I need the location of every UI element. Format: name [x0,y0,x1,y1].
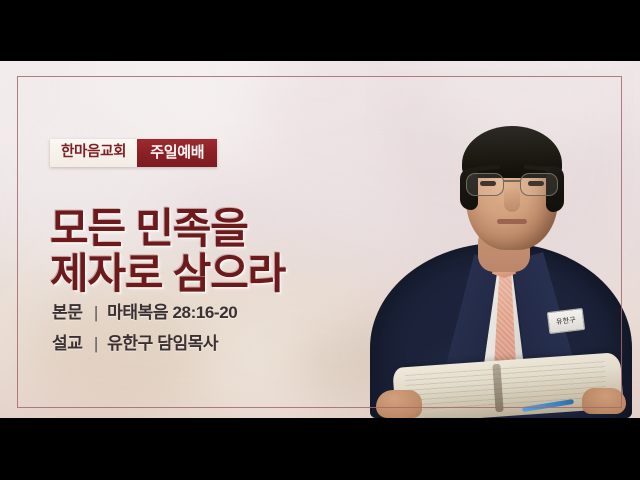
meta-separator: | [94,334,98,353]
speaker-portrait: 유한구 [366,69,634,418]
preacher-line: 설교 | 유한구 담임목사 [52,335,237,352]
scripture-label: 본문 [52,303,82,322]
church-name-badge: 한마음교회 [50,139,137,167]
nose [504,186,520,212]
preacher-label: 설교 [52,334,82,353]
mouth [497,219,527,224]
glasses-lens-right [520,173,558,196]
hand-right [582,388,626,414]
sermon-title-line-1: 모든 민족을 [50,207,285,252]
name-tag: 유한구 [547,308,585,334]
sermon-title: 모든 민족을 제자로 삼으라 [50,207,285,297]
scripture-line: 본문 | 마태복음 28:16-20 [52,304,237,321]
service-type-badge: 주일예배 [137,139,217,167]
video-player-frame: 유한구 한마음교회 주일예배 모든 민족을 제자로 삼으라 본문 | 마태복음 … [0,0,640,480]
letterbox-bar-top [0,0,640,61]
hand-left [376,390,422,418]
sermon-title-line-2: 제자로 삼으라 [50,252,285,297]
scripture-reference: 마태복음 28:16-20 [107,303,237,322]
badge-group: 한마음교회 주일예배 [50,139,217,167]
name-tag-label: 유한구 [555,315,576,327]
sermon-thumbnail: 유한구 한마음교회 주일예배 모든 민족을 제자로 삼으라 본문 | 마태복음 … [0,61,640,418]
glasses-bridge [503,180,521,182]
letterbox-bar-bottom [0,418,640,480]
sermon-meta: 본문 | 마태복음 28:16-20 설교 | 유한구 담임목사 [52,304,237,366]
preacher-name: 유한구 담임목사 [107,334,218,353]
meta-separator: | [94,303,98,322]
glasses-lens-left [466,173,504,196]
